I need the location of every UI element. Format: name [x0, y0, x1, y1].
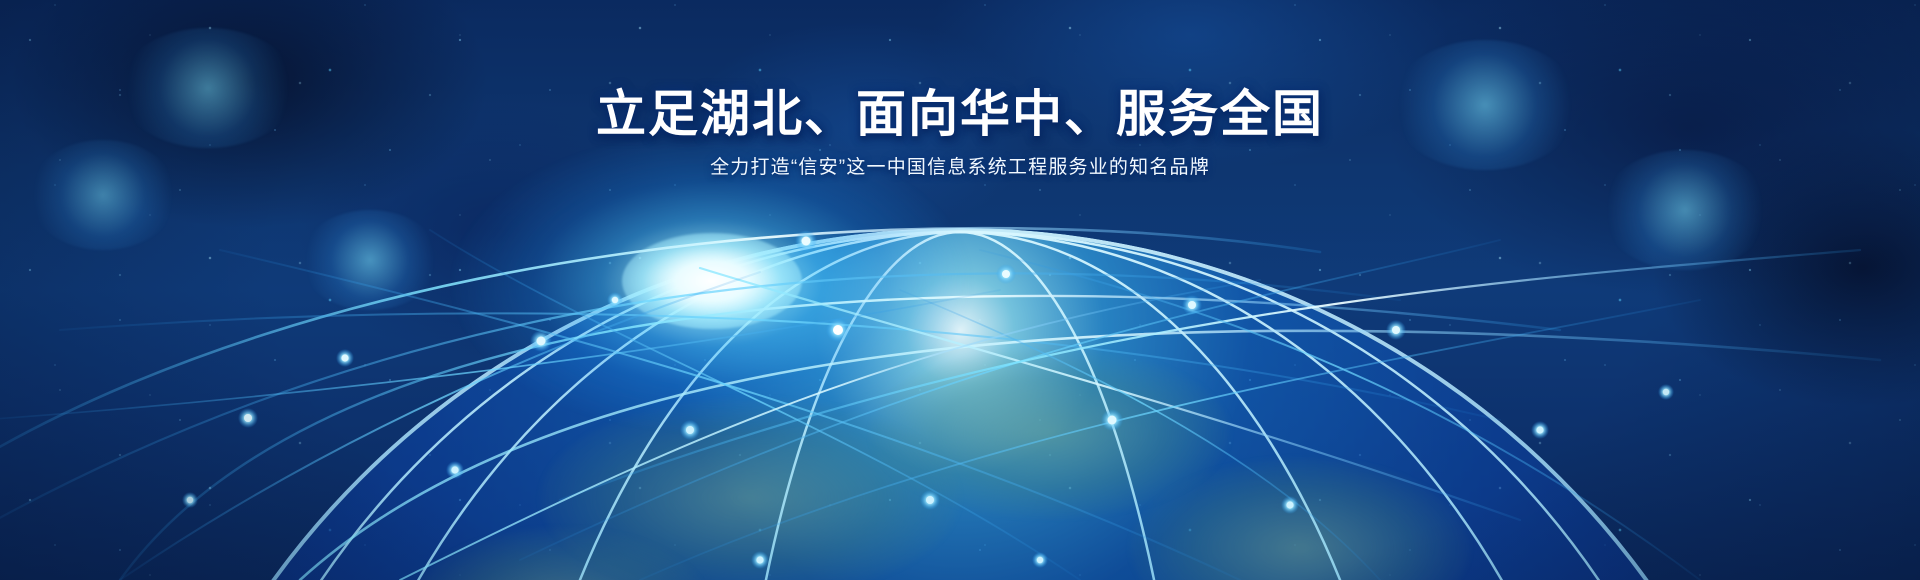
hero-subheadline: 全力打造“信安”这一中国信息系统工程服务业的知名品牌 [0, 156, 1920, 181]
hero-copy: 立足湖北、面向华中、服务全国 全力打造“信安”这一中国信息系统工程服务业的知名品… [0, 86, 1920, 181]
network-nodes [182, 230, 1674, 569]
hero-banner: 立足湖北、面向华中、服务全国 全力打造“信安”这一中国信息系统工程服务业的知名品… [0, 0, 1920, 580]
hero-headline: 立足湖北、面向华中、服务全国 [0, 86, 1920, 142]
